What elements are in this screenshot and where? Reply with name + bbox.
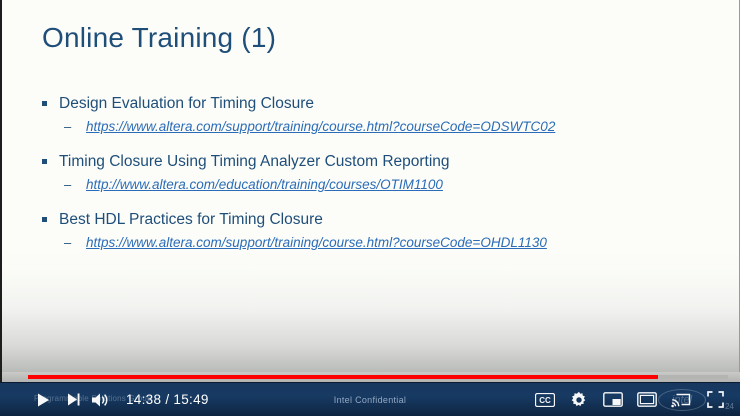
dash-bullet-icon: –: [64, 175, 86, 194]
video-player: Online Training (1) Design Evaluation fo…: [0, 0, 740, 416]
captions-button[interactable]: CC: [528, 383, 562, 416]
cast-button[interactable]: [664, 383, 698, 416]
play-icon: [35, 392, 51, 408]
fullscreen-button[interactable]: [698, 383, 732, 416]
training-link[interactable]: https://www.altera.com/support/training/…: [86, 233, 547, 252]
progress-track[interactable]: [28, 375, 728, 379]
slide-content-area: Online Training (1) Design Evaluation fo…: [0, 0, 740, 372]
play-button[interactable]: [26, 383, 60, 416]
fullscreen-icon: [707, 391, 724, 408]
volume-icon: [91, 392, 111, 408]
list-item: Timing Closure Using Timing Analyzer Cus…: [42, 152, 702, 172]
settings-button[interactable]: [562, 383, 596, 416]
square-bullet-icon: [42, 152, 59, 164]
square-bullet-icon: [42, 94, 59, 106]
left-controls: 14:38 / 15:49: [0, 383, 209, 416]
cc-icon: CC: [535, 393, 555, 407]
bullet-heading: Design Evaluation for Timing Closure: [59, 94, 314, 114]
square-bullet-icon: [42, 210, 59, 222]
bullet-list: Design Evaluation for Timing Closure – h…: [42, 94, 702, 268]
theater-mode-button[interactable]: [630, 383, 664, 416]
training-link[interactable]: https://www.altera.com/support/training/…: [86, 117, 555, 136]
miniplayer-icon: [603, 392, 623, 407]
progress-bar[interactable]: [0, 372, 740, 382]
cast-icon: [671, 392, 691, 408]
list-item-sub: – https://www.altera.com/support/trainin…: [64, 233, 702, 252]
progress-played: [28, 375, 658, 379]
right-controls: CC: [528, 383, 740, 416]
list-item: Best HDL Practices for Timing Closure: [42, 210, 702, 230]
list-item: Design Evaluation for Timing Closure: [42, 94, 702, 114]
list-item-sub: – https://www.altera.com/support/trainin…: [64, 117, 702, 136]
next-video-button[interactable]: [60, 383, 86, 416]
dash-bullet-icon: –: [64, 117, 86, 136]
training-link[interactable]: http://www.altera.com/education/training…: [86, 175, 443, 194]
svg-text:CC: CC: [539, 396, 551, 405]
time-display: 14:38 / 15:49: [126, 392, 209, 407]
volume-button[interactable]: [86, 383, 116, 416]
dash-bullet-icon: –: [64, 233, 86, 252]
list-item-sub: – http://www.altera.com/education/traini…: [64, 175, 702, 194]
bullet-heading: Timing Closure Using Timing Analyzer Cus…: [59, 152, 450, 172]
player-control-bar: Programmable Solutions Group: [0, 382, 740, 416]
theater-mode-icon: [637, 392, 657, 407]
bullet-heading: Best HDL Practices for Timing Closure: [59, 210, 323, 230]
miniplayer-button[interactable]: [596, 383, 630, 416]
next-track-icon: [66, 392, 81, 407]
page-title: Online Training (1): [42, 22, 276, 54]
gear-icon: [570, 391, 588, 409]
